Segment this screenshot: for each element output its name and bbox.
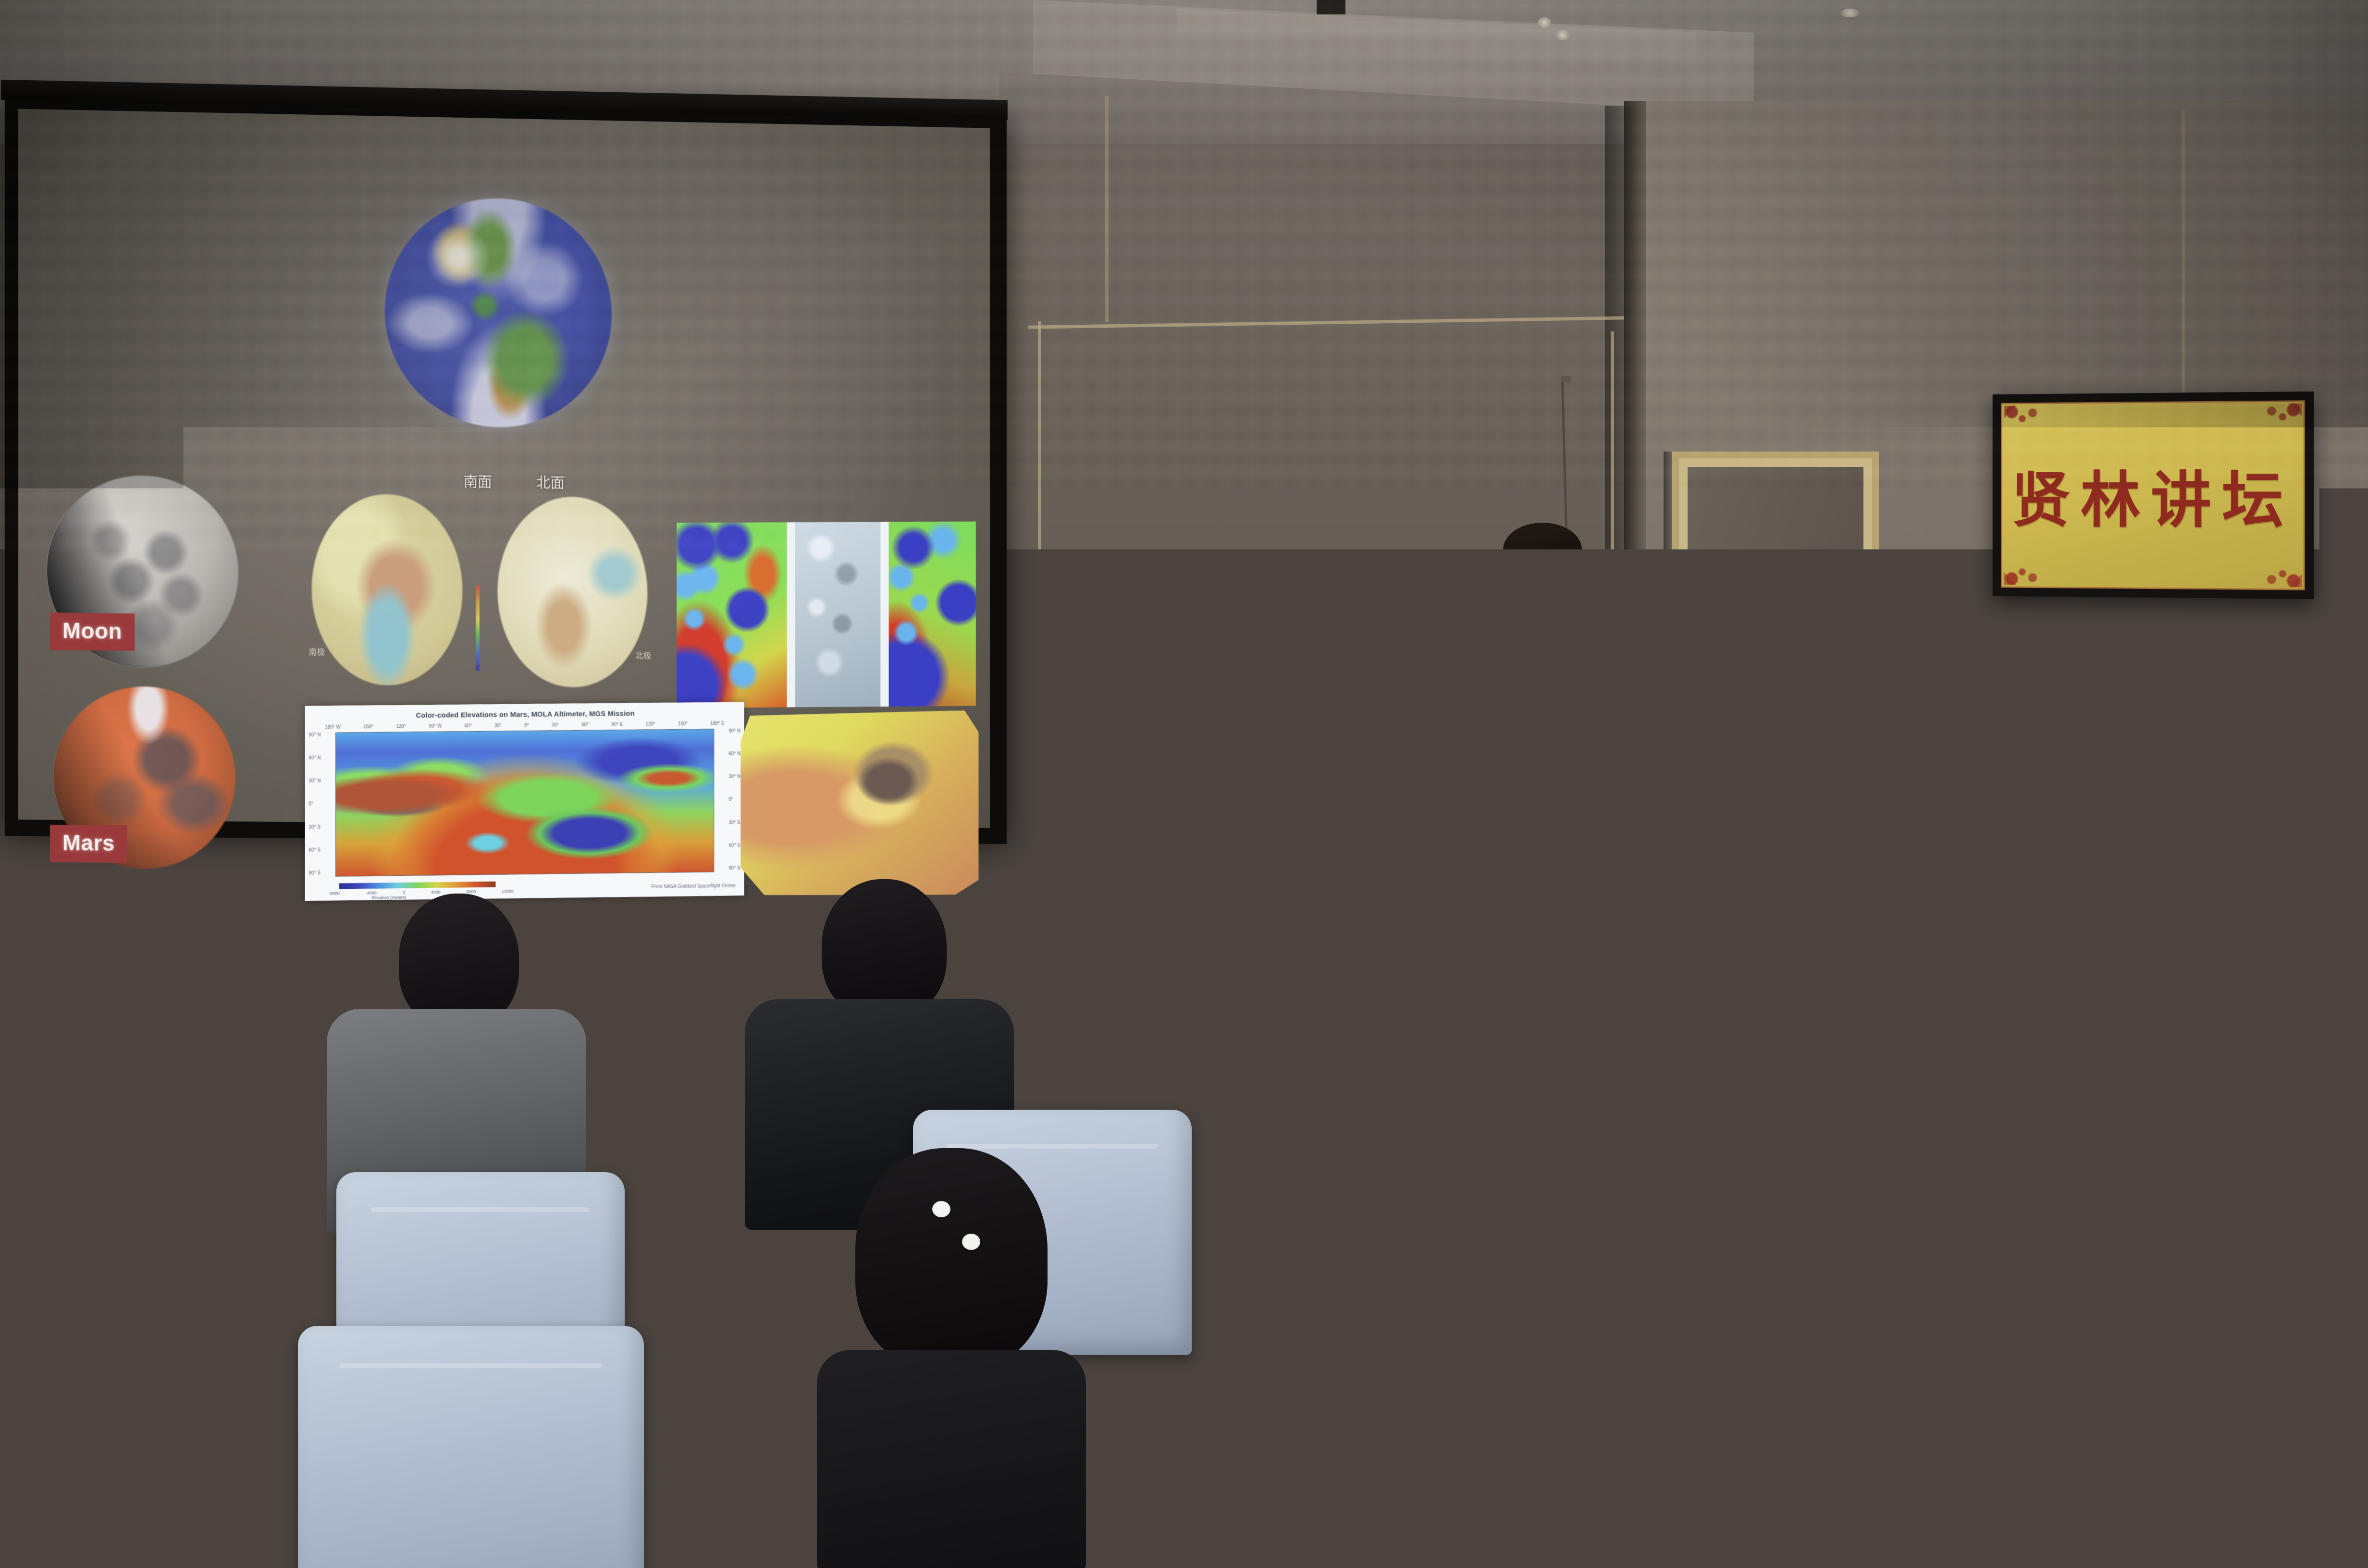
x-tick: 180° E (710, 721, 724, 726)
wall-trim-vertical (687, 894, 691, 1086)
x-tick: 120° (646, 722, 655, 727)
lectern-top (1434, 699, 1766, 735)
glasses-lens-right (1546, 563, 1573, 577)
hair-tie-icon (1691, 1191, 1714, 1206)
audience-head (2206, 874, 2331, 1009)
y-tick: 30° S (309, 824, 321, 830)
hair-clip-icon (962, 1234, 980, 1250)
y-tick: 30° N (309, 779, 321, 784)
ceiling-light-icon (1556, 30, 1569, 40)
crater-topography-triptych (677, 522, 976, 708)
projection-screen-surface: Moon Mars 南面 北面 南极 北极 Color-coded Elevat… (18, 109, 990, 828)
seat[interactable] (1807, 1230, 2153, 1568)
wall-plaque: 贤林讲坛 (1993, 392, 2314, 599)
x-tick: 0° (524, 723, 529, 728)
chart-credit: From NASA Goddard Spaceflight Center (652, 883, 736, 890)
chart-plot-area (335, 729, 714, 877)
cable-clip-icon (1561, 376, 1571, 382)
y-tick: 60° S (728, 843, 740, 848)
y-tick: 60° S (309, 847, 321, 853)
crater-elevation-strip-left (677, 522, 787, 708)
x-tick: 120° (396, 724, 406, 729)
earth-image (385, 196, 612, 429)
lunar-map-label-north: 北面 (536, 471, 565, 492)
audience-torso (2129, 1384, 2368, 1568)
glasses-lens-left (1512, 563, 1539, 577)
crater-elevation-strip-right (889, 522, 976, 707)
hair-clip-icon (1696, 1163, 1711, 1175)
x-tick: 150° (678, 722, 688, 727)
lunar-hemisphere-map-north (497, 496, 647, 688)
projection-screen: Moon Mars 南面 北面 南极 北极 Color-coded Elevat… (5, 96, 1007, 844)
x-tick: 60° (465, 723, 472, 729)
ceiling-vent (1317, 0, 1345, 14)
y-tick: 0° (309, 802, 321, 807)
seat[interactable] (298, 1326, 644, 1568)
plaque-corner-ornament-icon (2004, 405, 2044, 434)
audience-head (822, 879, 947, 1018)
lunar-hemisphere-map-south (312, 493, 463, 686)
lunar-map-tick-right: 北极 (635, 649, 651, 661)
x-tick: 150° (363, 724, 373, 730)
plaque-corner-ornament-icon (2004, 556, 2044, 585)
mars-crater-3d-render (740, 710, 979, 897)
chart-y-axis-ticks-left: 90° N 60° N 30° N 0° 30° S 60° S 90° S (309, 733, 321, 876)
chart-y-axis-ticks-right: 90° N 60° N 30° N 0° 30° S 60° S 90° S (728, 729, 740, 871)
chart-title: Color-coded Elevations on Mars, MOLA Alt… (305, 709, 744, 721)
chart-x-axis-ticks: 180° W 150° 120° 90° W 60° 30° 0° 30° 60… (325, 721, 725, 730)
y-tick: 90° N (728, 729, 740, 734)
university-emblem-icon (1500, 750, 1528, 779)
moon-label-badge: Moon (50, 612, 135, 651)
x-tick: 90° W (429, 724, 442, 729)
y-tick: 90° N (309, 733, 321, 738)
y-tick: 30° S (728, 820, 740, 825)
strip-divider (880, 522, 888, 707)
seat[interactable] (1394, 1259, 1759, 1568)
lectern-sign-text: 贤林讲坛 (1534, 749, 1630, 783)
seat[interactable] (625, 1316, 807, 1568)
mars-label-badge: Mars (50, 825, 127, 863)
audience-head (2158, 1196, 2340, 1398)
crater-grayscale-strip-center (795, 522, 880, 707)
plaque-corner-ornament-icon (2260, 403, 2302, 432)
y-tick: 30° N (728, 774, 740, 780)
x-tick: 30° (552, 723, 559, 728)
speaker-mouth (1535, 591, 1553, 599)
chart-colorbar (339, 882, 495, 889)
x-tick: 30° (494, 723, 502, 728)
y-tick: 0° (728, 797, 740, 802)
glasses-icon (1511, 563, 1574, 576)
wall-plaque-board: 贤林讲坛 (2001, 400, 2305, 590)
lapel-microphone-icon (1545, 678, 1555, 691)
mars-mola-elevation-chart: Color-coded Elevations on Mars, MOLA Alt… (305, 702, 744, 901)
x-tick: 90° E (611, 722, 623, 727)
wall-trim-vertical (1038, 321, 1041, 1090)
hair-clip-icon (932, 1201, 950, 1217)
audience-head (855, 1148, 1048, 1369)
y-tick: 90° S (728, 866, 740, 871)
audience-head (1816, 884, 1936, 1016)
ceiling-light-icon (1840, 9, 1860, 17)
ceiling-light-icon (1538, 17, 1551, 28)
lecture-hall-photo: Moon Mars 南面 北面 南极 北极 Color-coded Elevat… (0, 0, 2368, 1568)
audience-torso (817, 1350, 1086, 1568)
y-tick: 60° N (728, 751, 740, 757)
lunar-map-label-south: 南面 (464, 470, 492, 491)
y-tick: 60° N (309, 756, 321, 761)
x-tick: 60° (581, 723, 589, 728)
audience-head (399, 894, 519, 1028)
seat[interactable] (0, 1384, 250, 1568)
y-tick: 90° S (309, 870, 321, 876)
lectern-sign: 贤林讲坛 (1492, 740, 1692, 792)
lunar-map-tick-left: 南极 (309, 645, 325, 657)
audience-member (788, 1148, 1096, 1568)
wall-trim-vertical (2182, 110, 2185, 418)
wall-trim-vertical (1105, 96, 1109, 322)
audience-member (2129, 1196, 2368, 1568)
door-handle-icon[interactable] (1852, 826, 1872, 834)
wall-plaque-title: 贤林讲坛 (2001, 451, 2305, 540)
colorbar-tick: 12000 (502, 889, 514, 894)
lunar-map-colorbar (476, 585, 480, 671)
x-tick: 180° W (325, 724, 341, 730)
strip-divider (787, 522, 796, 707)
plaque-corner-ornament-icon (2260, 558, 2302, 587)
